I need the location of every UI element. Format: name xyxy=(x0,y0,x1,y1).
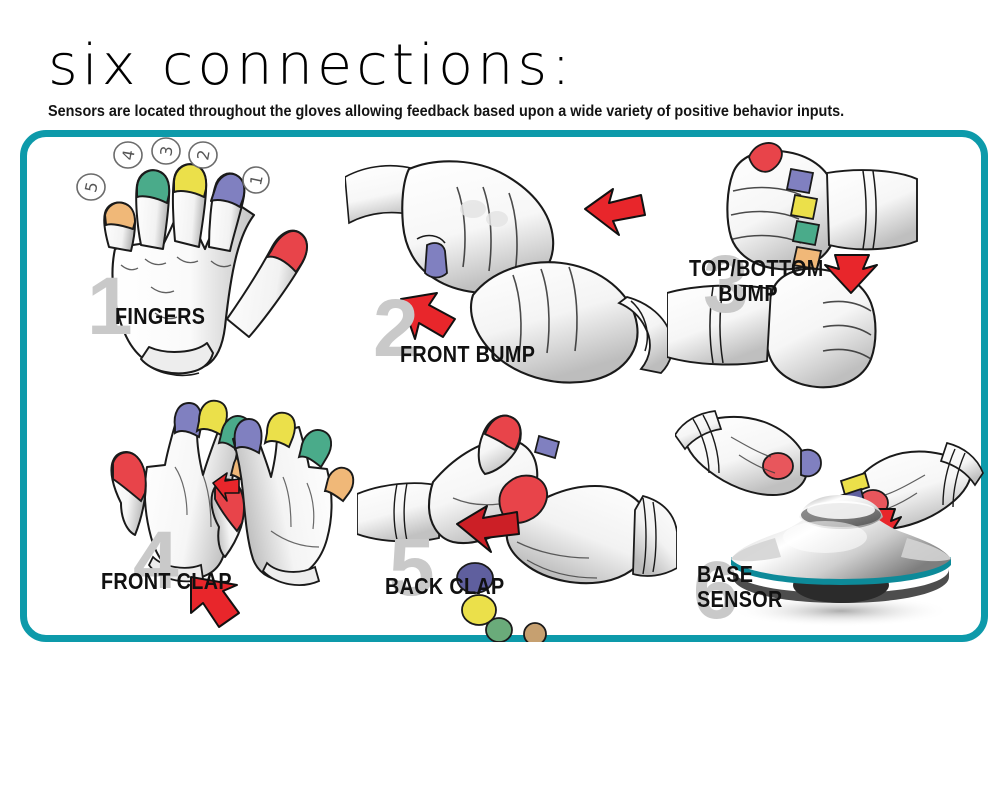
panel-label-line-1: TOP/BOTTOM xyxy=(689,255,824,281)
panel-label-fingers: FINGERS xyxy=(115,304,205,329)
header: six connections: Sensors are located thr… xyxy=(48,38,978,120)
panel-base-sensor: 6 BASE SENSOR xyxy=(675,407,985,637)
panel-back-clap: 5 BACK CLAP xyxy=(357,412,677,642)
page-title: six connections: xyxy=(48,38,997,94)
callout-5: 5 xyxy=(77,174,105,200)
panel-front-bump: 2 FRONT BUMP xyxy=(345,147,675,397)
panel-label-base-sensor: BASE SENSOR xyxy=(697,562,783,612)
callout-3: 3 xyxy=(152,138,180,164)
page-subtitle: Sensors are located throughout the glove… xyxy=(48,103,913,120)
panel-label-line-2: SENSOR xyxy=(697,586,783,612)
fingertip-middle-yellow xyxy=(174,164,206,197)
arrow-left-red xyxy=(585,189,645,235)
infographic-page: six connections: Sensors are located thr… xyxy=(0,0,1008,792)
front-clap-illustration xyxy=(87,387,387,637)
fingertip-red-left xyxy=(763,453,793,479)
callout-1: 1 xyxy=(243,167,269,193)
fingertip-green xyxy=(486,618,512,642)
callout-2: 2 xyxy=(189,142,217,168)
panel-fingers: 5 4 3 2 1 1 FIN xyxy=(55,137,355,387)
panel-top-bottom-bump: 3 TOP/BOTTOM BUMP xyxy=(667,137,977,392)
panel-label-back-clap: BACK CLAP xyxy=(385,574,505,599)
fingertip-pinky-orange xyxy=(105,203,135,229)
content-frame: 5 4 3 2 1 1 FIN xyxy=(20,130,988,642)
fingertip-purple-left xyxy=(801,450,821,477)
panel-label-front-bump: FRONT BUMP xyxy=(400,342,535,367)
panel-label-line-1: BASE xyxy=(697,561,753,587)
panel-label-top-bottom-bump: TOP/BOTTOM BUMP xyxy=(689,256,824,306)
panel-label-front-clap: FRONT CLAP xyxy=(101,569,232,594)
panel-label-line-2: BUMP xyxy=(689,281,778,306)
panel-front-clap: 4 FRONT CLAP xyxy=(87,387,387,637)
fingertip-orange xyxy=(524,623,546,642)
callout-4: 4 xyxy=(114,142,142,168)
